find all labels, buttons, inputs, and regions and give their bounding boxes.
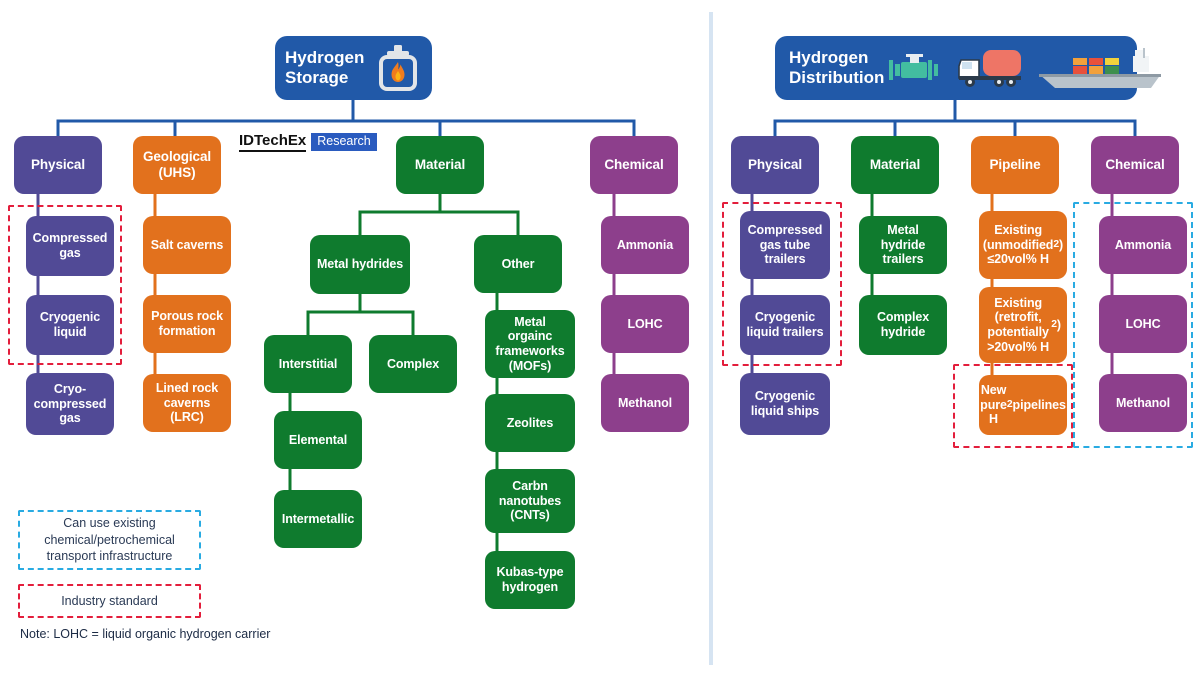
diagram-canvas: Hydrogen Storage IDTechEx Research Physi… bbox=[0, 0, 1200, 676]
storage-node-complex[interactable]: Complex bbox=[369, 335, 457, 393]
idtechex-wordmark: IDTechEx bbox=[239, 133, 306, 152]
storage-header-title: Hydrogen Storage bbox=[285, 48, 364, 87]
storage-node-interstitial[interactable]: Interstitial bbox=[264, 335, 352, 393]
distribution-node-metal-hydride-trailers[interactable]: Metal hydride trailers bbox=[859, 216, 947, 274]
cargo-ship-icon bbox=[1037, 48, 1165, 95]
storage-node-kubas-type-hydrogen[interactable]: Kubas-type hydrogen bbox=[485, 551, 575, 609]
storage-node-metal-hydrides[interactable]: Metal hydrides bbox=[310, 235, 410, 294]
legend-note: Note: LOHC = liquid organic hydrogen car… bbox=[20, 627, 270, 641]
distribution-header: Hydrogen Distribution bbox=[775, 36, 1137, 100]
storage-node-zeolites[interactable]: Zeolites bbox=[485, 394, 575, 452]
distribution-node-chemical[interactable]: Chemical bbox=[1091, 136, 1179, 194]
storage-node-geological[interactable]: Geological (UHS) bbox=[133, 136, 221, 194]
idtechex-research-tag: Research bbox=[311, 133, 377, 151]
storage-node-porous-rock-formation[interactable]: Porous rock formation bbox=[143, 295, 231, 353]
storage-node-ammonia[interactable]: Ammonia bbox=[601, 216, 689, 274]
panel-divider bbox=[709, 12, 713, 665]
storage-node-physical[interactable]: Physical bbox=[14, 136, 102, 194]
legend-industry-standard: Industry standard bbox=[18, 584, 201, 618]
distribution-node-material[interactable]: Material bbox=[851, 136, 939, 194]
storage-node-cryo-compressed-gas[interactable]: Cryo-compressed gas bbox=[26, 373, 114, 435]
storage-node-lohc[interactable]: LOHC bbox=[601, 295, 689, 353]
tanker-truck-icon bbox=[957, 48, 1023, 95]
pipeline-valve-icon bbox=[887, 54, 939, 91]
distribution-node-existing-unmodified[interactable]: Existing (unmodified ≤20vol% H2) bbox=[979, 211, 1067, 279]
legend-existing-infrastructure: Can use existing chemical/petrochemical … bbox=[18, 510, 201, 570]
distribution-node-pipeline[interactable]: Pipeline bbox=[971, 136, 1059, 194]
storage-physical-industry-standard-frame bbox=[8, 205, 122, 365]
storage-node-lined-rock-caverns[interactable]: Lined rock caverns (LRC) bbox=[143, 374, 231, 432]
storage-node-elemental[interactable]: Elemental bbox=[274, 411, 362, 469]
distribution-physical-industry-standard-frame bbox=[722, 202, 842, 366]
storage-node-salt-caverns[interactable]: Salt caverns bbox=[143, 216, 231, 274]
distribution-node-cryogenic-liquid-ships[interactable]: Cryogenic liquid ships bbox=[740, 373, 830, 435]
distribution-node-complex-hydride[interactable]: Complex hydride bbox=[859, 295, 947, 355]
distribution-node-existing-retrofit[interactable]: Existing (retrofit, potentially >20vol% … bbox=[979, 287, 1067, 363]
distribution-node-physical[interactable]: Physical bbox=[731, 136, 819, 194]
distribution-header-title: Hydrogen Distribution bbox=[789, 48, 884, 87]
storage-node-material[interactable]: Material bbox=[396, 136, 484, 194]
distribution-chemical-existing-infra-frame bbox=[1073, 202, 1193, 448]
storage-node-other[interactable]: Other bbox=[474, 235, 562, 293]
idtechex-logo: IDTechEx Research bbox=[239, 133, 377, 152]
storage-node-chemical[interactable]: Chemical bbox=[590, 136, 678, 194]
distribution-pipeline-industry-standard-frame bbox=[953, 364, 1073, 448]
hydrogen-tank-flame-icon bbox=[372, 42, 424, 99]
storage-node-intermetallic[interactable]: Intermetallic bbox=[274, 490, 362, 548]
storage-node-carbon-nanotubes[interactable]: Carbn nanotubes (CNTs) bbox=[485, 469, 575, 533]
storage-header: Hydrogen Storage bbox=[275, 36, 432, 100]
storage-node-mofs[interactable]: Metal orgainc frameworks (MOFs) bbox=[485, 310, 575, 378]
storage-node-methanol[interactable]: Methanol bbox=[601, 374, 689, 432]
